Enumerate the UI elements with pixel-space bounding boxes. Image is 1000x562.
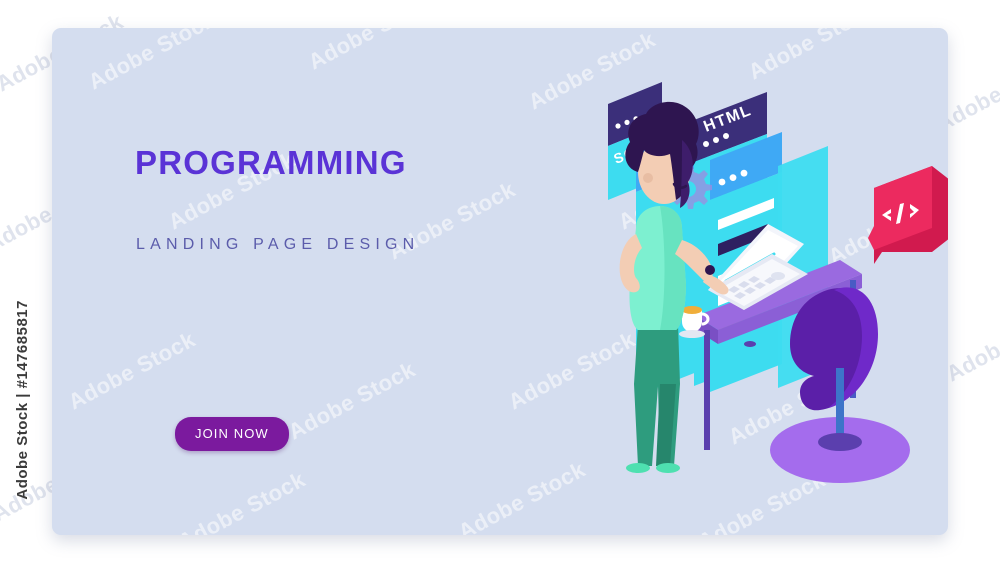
landing-page-card: Adobe Stock Adobe Stock Adobe Stock Adob… (52, 28, 948, 535)
watermark-tile: Adobe Stock (84, 28, 220, 95)
chair-stem (836, 368, 844, 440)
screenshot-stage: Adobe Stock Adobe Stock Adobe Stock Adob… (0, 0, 1000, 562)
chair-base (818, 433, 862, 451)
page-title: PROGRAMMING (135, 146, 419, 179)
watermark-tile: Adobe Stock (942, 299, 1000, 388)
watermark-tile: Adobe Stock (284, 357, 420, 446)
join-now-button[interactable]: JOIN NOW (175, 417, 289, 451)
watermark-tile: Adobe Stock (454, 457, 590, 535)
shoe (656, 463, 680, 473)
watermark-tile: Adobe Stock (174, 467, 310, 535)
watermark-credit: Adobe Stock | #147685817 (14, 300, 31, 500)
watermark-tile: Adobe Stock (64, 327, 200, 416)
page-subtitle: LANDING PAGE DESIGN (136, 237, 419, 253)
code-bubble-icon (868, 166, 948, 264)
watermark-tile: Adobe Stock (304, 28, 440, 75)
hero-copy: PROGRAMMING LANDING PAGE DESIGN (135, 146, 419, 253)
shoe (626, 463, 650, 473)
illustration-programmer-workspace: SCRIPT HTML (582, 68, 948, 498)
desk-leg (704, 330, 710, 450)
